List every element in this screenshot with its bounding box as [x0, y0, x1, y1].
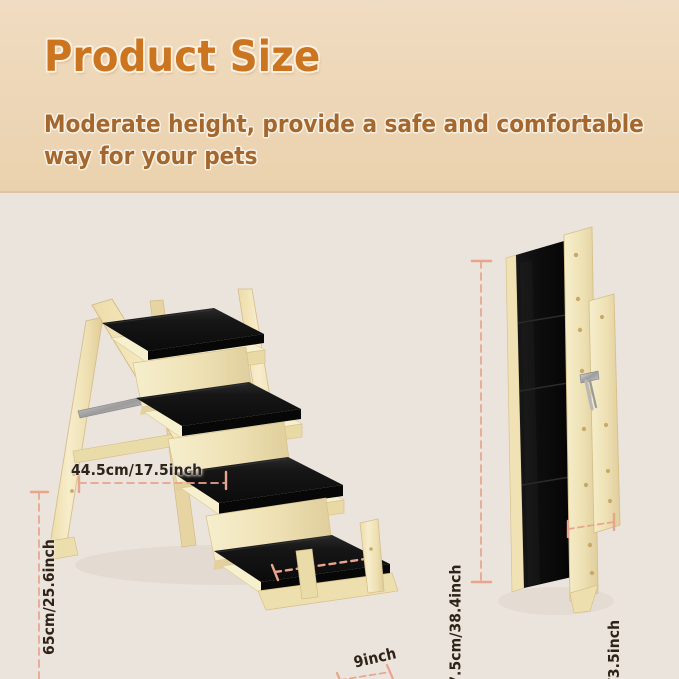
product-illustration-stage: 44.5cm/17.5inch 65cm/25.6inch 79cm/31inc…	[0, 193, 679, 679]
page-title: Product Size	[44, 36, 320, 79]
dimension-label-folded-thickness: 9cm/3.5inch	[605, 620, 623, 679]
dimension-label-height: 65cm/25.6inch	[40, 539, 58, 655]
dimension-label-folded-height: 97.5cm/38.4inch	[447, 564, 465, 679]
open-stairs-illustration	[50, 289, 398, 610]
folded-stairs-illustration	[498, 227, 620, 615]
dimension-label-top-width: 44.5cm/17.5inch	[71, 461, 202, 479]
product-artwork	[0, 193, 679, 679]
header-banner: Product Size Moderate height, provide a …	[0, 0, 679, 193]
product-size-infographic: Product Size Moderate height, provide a …	[0, 0, 679, 679]
page-subtitle: Moderate height, provide a safe and comf…	[44, 108, 644, 173]
